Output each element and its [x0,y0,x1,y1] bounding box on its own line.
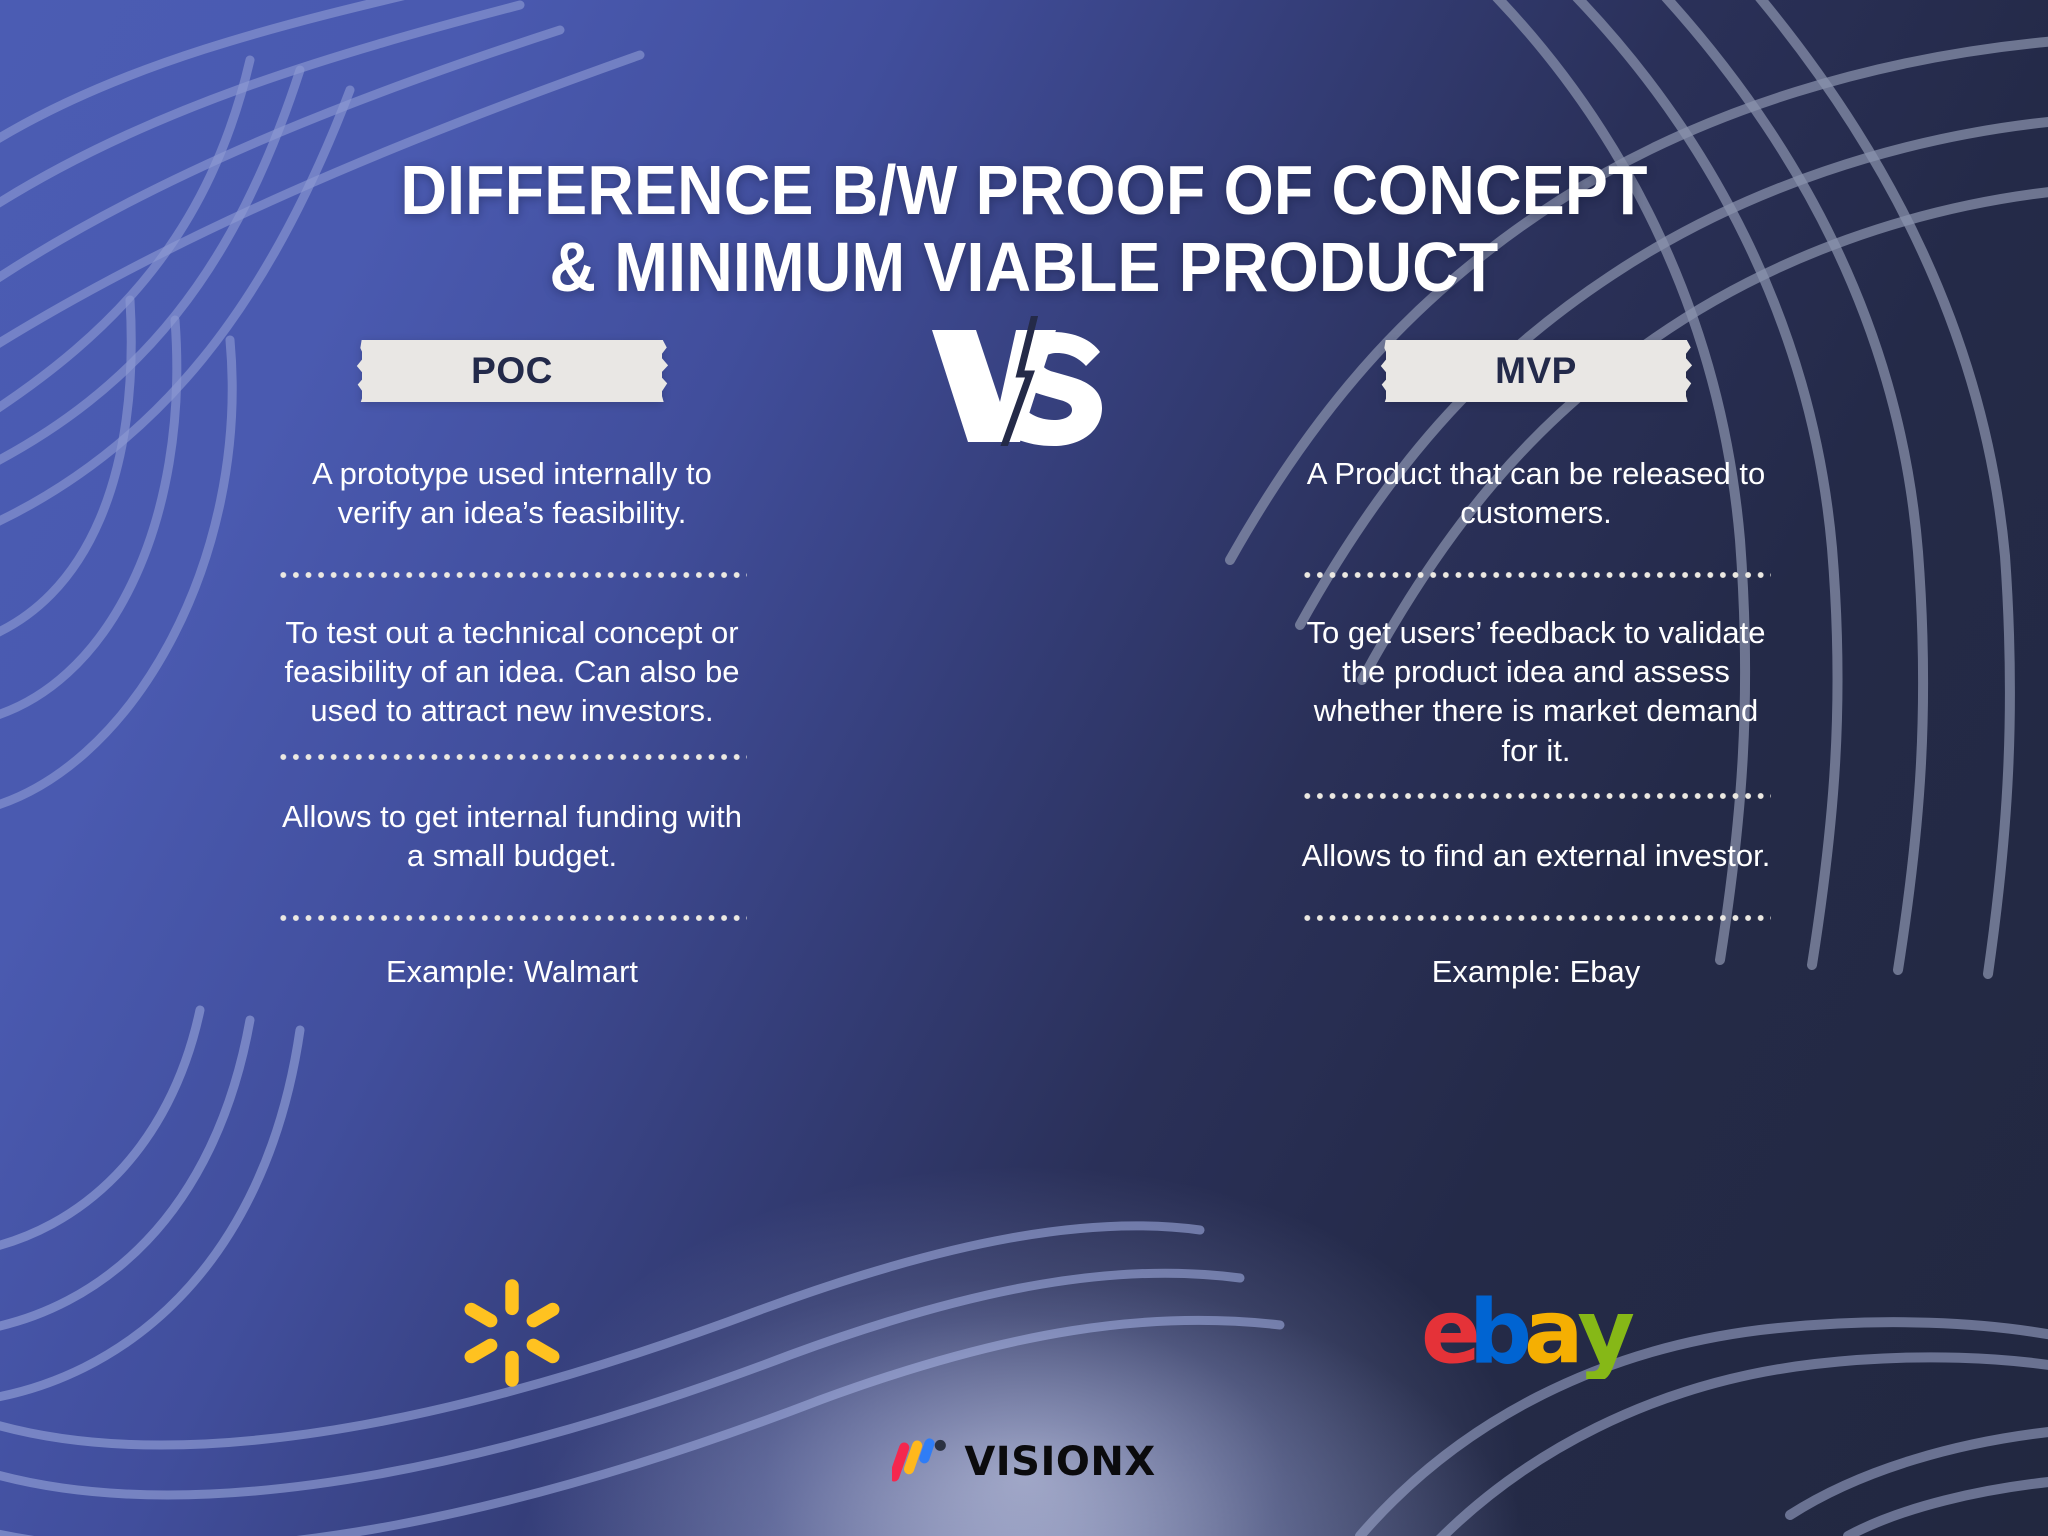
poc-point-3: Allows to get internal funding with a sm… [277,797,747,876]
visionx-mark-icon [892,1438,948,1486]
svg-text:y: y [1577,1287,1635,1379]
versus-badge [924,316,1124,446]
poc-badge: POC [362,340,662,402]
mvp-badge: MVP [1386,340,1686,402]
ebay-logo-cell: e b a y [1024,1268,2048,1398]
mvp-example: Example: Ebay [1301,952,1771,991]
poc-example: Example: Walmart [277,952,747,991]
poc-divider-1 [277,571,747,579]
mvp-badge-label: MVP [1495,350,1577,392]
walmart-logo [456,1277,568,1389]
visionx-wordmark: VISIONX [964,1439,1155,1485]
mvp-divider-1 [1301,571,1771,579]
mvp-point-1: A Product that can be released to custom… [1301,454,1771,533]
poc-divider-3 [277,914,747,922]
mvp-divider-3 [1301,914,1771,922]
infographic-canvas: DIFFERENCE B/W PROOF OF CONCEPT & MINIMU… [0,0,2048,1536]
footer-brand: VISIONX [0,1438,2048,1486]
poc-point-2: To test out a technical concept or feasi… [277,613,747,731]
mvp-point-3: Allows to find an external investor. [1301,836,1771,875]
mvp-divider-2 [1301,792,1771,800]
walmart-logo-cell [0,1268,1024,1398]
mvp-point-2: To get users’ feedback to validate the p… [1301,613,1771,770]
poc-divider-2 [277,753,747,761]
title-line-1: DIFFERENCE B/W PROOF OF CONCEPT [400,151,1647,229]
ebay-logo: e b a y [1421,1287,1651,1379]
svg-text:a: a [1524,1287,1584,1379]
poc-badge-label: POC [471,350,553,392]
column-mvp: MVP A Product that can be released to cu… [1024,340,2048,991]
page-title: DIFFERENCE B/W PROOF OF CONCEPT & MINIMU… [82,155,1966,304]
example-logos: e b a y [0,1268,2048,1398]
column-poc: POC A prototype used internally to verif… [0,340,1024,991]
poc-point-1: A prototype used internally to verify an… [277,454,747,533]
title-line-2: & MINIMUM VIABLE PRODUCT [82,232,1966,303]
svg-text:b: b [1469,1287,1532,1379]
